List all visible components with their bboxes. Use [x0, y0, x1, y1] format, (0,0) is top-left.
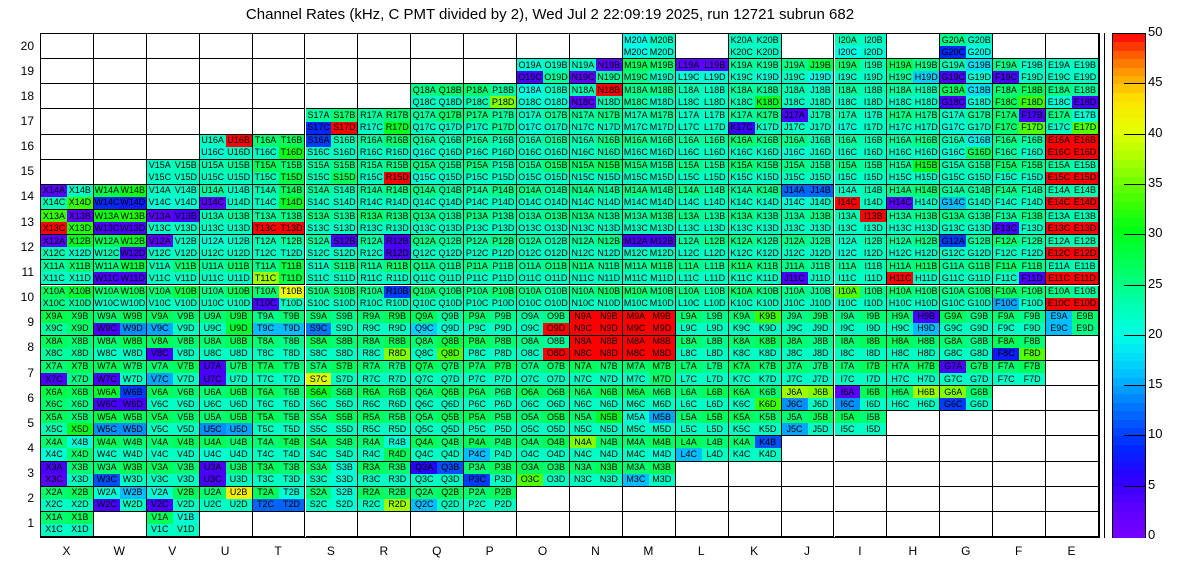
heatmap-subpad: F13B — [1019, 210, 1045, 222]
heatmap-subpad: F19C — [993, 71, 1019, 83]
heatmap-subpad: N6B — [596, 386, 622, 398]
heatmap-cell: I14AI14BI14CI14D — [835, 185, 888, 210]
heatmap-cell-empty — [623, 512, 676, 537]
heatmap-subpad: X2A — [41, 487, 67, 499]
heatmap-subpad: S6B — [331, 386, 357, 398]
heatmap-subpad: Q2A — [411, 487, 437, 499]
heatmap-subpad: U10D — [226, 298, 252, 310]
heatmap-subpad: J6A — [782, 386, 808, 398]
heatmap-cell: F13AF13BF13CF13D — [993, 210, 1046, 235]
heatmap-subpad: T12D — [279, 247, 305, 259]
heatmap-cell: I17AI17BI17CI17D — [835, 109, 888, 134]
heatmap-cell: I13AI13BI13CI13D — [835, 210, 888, 235]
heatmap-cell: J13AJ13BJ13CJ13D — [782, 210, 835, 235]
heatmap-subpad: H10D — [913, 298, 939, 310]
heatmap-subpad: S8A — [306, 336, 332, 348]
heatmap-subpad: F8C — [993, 348, 1019, 360]
heatmap-cell: L10AL10BL10CL10D — [676, 286, 729, 311]
heatmap-subpad: P6B — [490, 386, 516, 398]
heatmap-cell: Q15AQ15BQ15CQ15D — [411, 160, 464, 185]
heatmap-subpad: E12C — [1046, 247, 1072, 259]
heatmap-subpad: L5A — [676, 411, 702, 423]
heatmap-subpad: U10C — [200, 298, 226, 310]
heatmap-subpad: T15A — [253, 160, 279, 172]
heatmap-cell: M5AM5BM5CM5D — [623, 411, 676, 436]
heatmap-subpad: T12C — [253, 247, 279, 259]
x-axis-tick-label: V — [146, 544, 199, 558]
heatmap-subpad: X5C — [41, 423, 67, 435]
heatmap-subpad: K16B — [755, 135, 781, 147]
heatmap-subpad: T13C — [253, 222, 279, 234]
heatmap-subpad: R10B — [384, 286, 410, 298]
heatmap-subpad: Q4C — [411, 448, 437, 460]
heatmap-cell: H6AH6BH6CH6D — [887, 386, 940, 411]
heatmap-subpad: K19C — [729, 71, 755, 83]
heatmap-cell: M4AM4BM4CM4D — [623, 436, 676, 461]
heatmap-subpad: Q3C — [411, 474, 437, 486]
heatmap-cell: S15AS15BS15CS15D — [306, 160, 359, 185]
heatmap-subpad: K9C — [729, 323, 755, 335]
heatmap-subpad: K19B — [755, 59, 781, 71]
heatmap-subpad: K13B — [755, 210, 781, 222]
heatmap-cell: V7AV7BV7CV7D — [147, 361, 200, 386]
heatmap-cell-empty — [835, 436, 888, 461]
heatmap-cell: P9AP9BP9CP9D — [464, 311, 517, 336]
heatmap-subpad: E18A — [1046, 84, 1072, 96]
heatmap-subpad: K5D — [755, 423, 781, 435]
heatmap-subpad: N10C — [570, 298, 596, 310]
heatmap-cell: I10AI10BI10CI10D — [835, 286, 888, 311]
heatmap-subpad: P13B — [490, 210, 516, 222]
heatmap-subpad: E15B — [1072, 160, 1098, 172]
heatmap-cell: X7AX7BX7CX7D — [41, 361, 94, 386]
heatmap-subpad: H13B — [913, 210, 939, 222]
heatmap-cell: M9AM9BM9CM9D — [623, 311, 676, 336]
heatmap-subpad: U8B — [226, 336, 252, 348]
heatmap-subpad: M18D — [649, 96, 675, 108]
heatmap-cell-empty — [464, 34, 517, 59]
heatmap-subpad: I18D — [860, 96, 886, 108]
heatmap-subpad: I6C — [835, 398, 861, 410]
heatmap-subpad: U6C — [200, 398, 226, 410]
heatmap-subpad: I8A — [835, 336, 861, 348]
heatmap-subpad: R4B — [384, 436, 410, 448]
heatmap-subpad: Q4D — [437, 448, 463, 460]
heatmap-subpad: N13A — [570, 210, 596, 222]
heatmap-subpad: M9A — [623, 311, 649, 323]
heatmap-subpad: X4C — [41, 448, 67, 460]
heatmap-subpad: I6B — [860, 386, 886, 398]
heatmap-cell: R3AR3BR3CR3D — [358, 462, 411, 487]
heatmap-subpad: N8C — [570, 348, 596, 360]
colorbar-tick-label: 30 — [1148, 225, 1162, 240]
heatmap-subpad: L14B — [702, 185, 728, 197]
heatmap-subpad: N5D — [596, 423, 622, 435]
heatmap-subpad: I17C — [835, 122, 861, 134]
heatmap-cell-empty — [1046, 361, 1099, 386]
heatmap-subpad: H16D — [913, 147, 939, 159]
heatmap-subpad: T7B — [279, 361, 305, 373]
heatmap-subpad: U14B — [226, 185, 252, 197]
heatmap-cell: O4AO4BO4CO4D — [517, 436, 570, 461]
heatmap-subpad: F15D — [1019, 172, 1045, 184]
heatmap-subpad: F7B — [1019, 361, 1045, 373]
heatmap-subpad: Q13B — [437, 210, 463, 222]
heatmap-cell: W11AW11BW11CW11D — [94, 260, 147, 285]
heatmap-cell: G6AG6BG6CG6D — [940, 386, 993, 411]
heatmap-cell: O9AO9BO9CO9D — [517, 311, 570, 336]
heatmap-subpad: Q5A — [411, 411, 437, 423]
heatmap-subpad: P18D — [490, 96, 516, 108]
heatmap-subpad: W13B — [120, 210, 146, 222]
heatmap-subpad: W3B — [120, 462, 146, 474]
heatmap-subpad: H18B — [913, 84, 939, 96]
heatmap-cell: K19AK19BK19CK19D — [729, 59, 782, 84]
heatmap-subpad: I5A — [835, 411, 861, 423]
heatmap-subpad: F12A — [993, 235, 1019, 247]
heatmap-subpad: G16A — [940, 135, 966, 147]
heatmap-subpad: M16B — [649, 135, 675, 147]
heatmap-cell: X8AX8BX8CX8D — [41, 336, 94, 361]
heatmap-subpad: T14D — [279, 197, 305, 209]
heatmap-subpad: K16C — [729, 147, 755, 159]
heatmap-cell: Q6AQ6BQ6CQ6D — [411, 386, 464, 411]
heatmap-subpad: X7D — [67, 373, 93, 385]
heatmap-subpad: K12D — [755, 247, 781, 259]
heatmap-subpad: T6C — [253, 398, 279, 410]
heatmap-subpad: V10D — [173, 298, 199, 310]
heatmap-subpad: Q17B — [437, 109, 463, 121]
heatmap-cell: P7AP7BP7CP7D — [464, 361, 517, 386]
heatmap-subpad: X2D — [67, 499, 93, 511]
heatmap-cell: F14AF14BF14CF14D — [993, 185, 1046, 210]
heatmap-subpad: M6D — [649, 398, 675, 410]
heatmap-subpad: H6A — [887, 386, 913, 398]
heatmap-cell: W10AW10BW10CW10D — [94, 286, 147, 311]
heatmap-subpad: V15D — [173, 172, 199, 184]
heatmap-cell: X1AX1BX1CX1D — [41, 512, 94, 537]
heatmap-subpad: G17C — [940, 122, 966, 134]
heatmap-subpad: I14D — [860, 197, 886, 209]
heatmap-subpad: O14D — [543, 197, 569, 209]
heatmap-subpad: J10C — [782, 298, 808, 310]
heatmap-subpad: F16A — [993, 135, 1019, 147]
heatmap-subpad: E14C — [1046, 197, 1072, 209]
heatmap-subpad: T16B — [279, 135, 305, 147]
heatmap-subpad: N10D — [596, 298, 622, 310]
heatmap-cell: X2AX2BX2CX2D — [41, 487, 94, 512]
heatmap-cell-empty — [782, 436, 835, 461]
heatmap-subpad: P12C — [464, 247, 490, 259]
heatmap-subpad: W10B — [120, 286, 146, 298]
heatmap-subpad: T15C — [253, 172, 279, 184]
heatmap-cell-empty — [411, 59, 464, 84]
heatmap-subpad: S2D — [331, 499, 357, 511]
heatmap-subpad: L8C — [676, 348, 702, 360]
heatmap-subpad: P4D — [490, 448, 516, 460]
heatmap-subpad: N15B — [596, 160, 622, 172]
heatmap-subpad: P16D — [490, 147, 516, 159]
heatmap-subpad: H13A — [887, 210, 913, 222]
heatmap-subpad: K13A — [729, 210, 755, 222]
heatmap-subpad: K19D — [755, 71, 781, 83]
heatmap-subpad: E10C — [1046, 298, 1072, 310]
heatmap-subpad: L16C — [676, 147, 702, 159]
heatmap-cell: K6AK6BK6CK6D — [729, 386, 782, 411]
heatmap-subpad: L7B — [702, 361, 728, 373]
heatmap-subpad: W9D — [120, 323, 146, 335]
heatmap-subpad: L11D — [702, 272, 728, 284]
heatmap-subpad: H6B — [913, 386, 939, 398]
heatmap-subpad: U2D — [226, 499, 252, 511]
heatmap-subpad: Q5D — [437, 423, 463, 435]
heatmap-cell: M6AM6BM6CM6D — [623, 386, 676, 411]
heatmap-subpad: R6C — [358, 398, 384, 410]
heatmap-subpad: X2B — [67, 487, 93, 499]
heatmap-subpad: Q7A — [411, 361, 437, 373]
heatmap-subpad: K5C — [729, 423, 755, 435]
heatmap-subpad: P7A — [464, 361, 490, 373]
heatmap-subpad: S10B — [331, 286, 357, 298]
heatmap-cell: J5AJ5BJ5CJ5D — [782, 411, 835, 436]
heatmap-subpad: H19D — [913, 71, 939, 83]
heatmap-subpad: V15A — [147, 160, 173, 172]
heatmap-cell: X13AX13BX13CX13D — [41, 210, 94, 235]
heatmap-subpad: R4C — [358, 448, 384, 460]
heatmap-subpad: O6B — [543, 386, 569, 398]
heatmap-subpad: E16B — [1072, 135, 1098, 147]
heatmap-subpad: L8D — [702, 348, 728, 360]
heatmap-subpad: X14D — [67, 197, 93, 209]
heatmap-subpad: G6D — [966, 398, 992, 410]
heatmap-subpad: G10C — [940, 298, 966, 310]
heatmap-subpad: N3D — [596, 474, 622, 486]
heatmap-subpad: P16B — [490, 135, 516, 147]
heatmap-subpad: J9C — [782, 323, 808, 335]
heatmap-subpad: G13D — [966, 222, 992, 234]
heatmap-subpad: Q6B — [437, 386, 463, 398]
heatmap-subpad: E18D — [1072, 96, 1098, 108]
heatmap-subpad: R15C — [358, 172, 384, 184]
heatmap-cell: I9AI9BI9CI9D — [835, 311, 888, 336]
heatmap-subpad: K18D — [755, 96, 781, 108]
heatmap-subpad: Q10B — [437, 286, 463, 298]
heatmap-subpad: K20B — [755, 34, 781, 46]
heatmap-subpad: E16D — [1072, 147, 1098, 159]
heatmap-subpad: O8D — [543, 348, 569, 360]
heatmap-cell: N11AN11BN11CN11D — [570, 260, 623, 285]
heatmap-cell-empty — [41, 160, 94, 185]
heatmap-subpad: M8C — [623, 348, 649, 360]
heatmap-subpad: R15D — [384, 172, 410, 184]
heatmap-subpad: O9B — [543, 311, 569, 323]
heatmap-subpad: N18D — [596, 96, 622, 108]
heatmap-subpad: L11B — [702, 260, 728, 272]
heatmap-subpad: K17B — [755, 109, 781, 121]
heatmap-subpad: W2B — [120, 487, 146, 499]
heatmap-subpad: M4B — [649, 436, 675, 448]
heatmap-cell: L16AL16BL16CL16D — [676, 135, 729, 160]
heatmap-subpad: H18C — [887, 96, 913, 108]
heatmap-cell: N3AN3BN3CN3D — [570, 462, 623, 487]
heatmap-cell: U2AU2BU2CU2D — [200, 487, 253, 512]
heatmap-subpad: J14D — [808, 197, 834, 209]
heatmap-cell-empty — [41, 135, 94, 160]
heatmap-subpad: K10C — [729, 298, 755, 310]
heatmap-cell: K13AK13BK13CK13D — [729, 210, 782, 235]
heatmap-subpad: N10A — [570, 286, 596, 298]
heatmap-subpad: F11A — [993, 260, 1019, 272]
heatmap-subpad: M19C — [623, 71, 649, 83]
heatmap-subpad: T3B — [279, 462, 305, 474]
heatmap-cell: N4AN4BN4CN4D — [570, 436, 623, 461]
heatmap-subpad: I10B — [860, 286, 886, 298]
heatmap-subpad: E15D — [1072, 172, 1098, 184]
heatmap-subpad: P9B — [490, 311, 516, 323]
heatmap-subpad: T8D — [279, 348, 305, 360]
heatmap-subpad: U5C — [200, 423, 226, 435]
heatmap-cell: O11AO11BO11CO11D — [517, 260, 570, 285]
heatmap-subpad: P18C — [464, 96, 490, 108]
heatmap-subpad: I13C — [835, 222, 861, 234]
heatmap-cell: W3AW3BW3CW3D — [94, 462, 147, 487]
heatmap-subpad: Q18C — [411, 96, 437, 108]
heatmap-subpad: Q10D — [437, 298, 463, 310]
heatmap-subpad: O3C — [517, 474, 543, 486]
heatmap-subpad: R12A — [358, 235, 384, 247]
heatmap-subpad: M9B — [649, 311, 675, 323]
colorbar-ticks: 05101520253035404550 — [1112, 33, 1192, 538]
heatmap-subpad: I13A — [835, 210, 861, 222]
heatmap-subpad: F10B — [1019, 286, 1045, 298]
heatmap-cell: P18AP18BP18CP18D — [464, 84, 517, 109]
heatmap-subpad: S10D — [331, 298, 357, 310]
heatmap-subpad: L18B — [702, 84, 728, 96]
heatmap-subpad: U12D — [226, 247, 252, 259]
heatmap-subpad: P2A — [464, 487, 490, 499]
heatmap-subpad: S6A — [306, 386, 332, 398]
heatmap-subpad: T11B — [279, 260, 305, 272]
heatmap-subpad: S7B — [331, 361, 357, 373]
heatmap-subpad: T8A — [253, 336, 279, 348]
heatmap-subpad: L8B — [702, 336, 728, 348]
heatmap-subpad: L9C — [676, 323, 702, 335]
heatmap-subpad: F12C — [993, 247, 1019, 259]
heatmap-cell: T15AT15BT15CT15D — [253, 160, 306, 185]
heatmap-subpad: L13D — [702, 222, 728, 234]
heatmap-subpad: S17A — [306, 109, 332, 121]
heatmap-subpad: I10A — [835, 286, 861, 298]
heatmap-subpad: P12B — [490, 235, 516, 247]
heatmap-subpad: M10C — [623, 298, 649, 310]
heatmap-cell: E12AE12BE12CE12D — [1046, 235, 1099, 260]
heatmap-subpad: R3A — [358, 462, 384, 474]
heatmap-subpad: F19D — [1019, 71, 1045, 83]
heatmap-subpad: X12A — [41, 235, 67, 247]
heatmap-subpad: N18A — [570, 84, 596, 96]
heatmap-cell: U8AU8BU8CU8D — [200, 336, 253, 361]
heatmap-subpad: R9B — [384, 311, 410, 323]
heatmap-subpad: U10A — [200, 286, 226, 298]
heatmap-cell: T7AT7BT7CT7D — [253, 361, 306, 386]
heatmap-plot: M20AM20BM20CM20DK20AK20BK20CK20DI20AI20B… — [40, 33, 1100, 538]
heatmap-subpad: P8B — [490, 336, 516, 348]
heatmap-subpad: N8B — [596, 336, 622, 348]
heatmap-subpad: V13D — [173, 222, 199, 234]
heatmap-subpad: J17B — [808, 109, 834, 121]
heatmap-cell: S7AS7BS7CS7D — [306, 361, 359, 386]
heatmap-subpad: S9B — [331, 311, 357, 323]
heatmap-cell: T8AT8BT8CT8D — [253, 336, 306, 361]
heatmap-subpad: V3C — [147, 474, 173, 486]
heatmap-subpad: V8C — [147, 348, 173, 360]
heatmap-subpad: O19C — [517, 71, 543, 83]
heatmap-subpad: N4A — [570, 436, 596, 448]
heatmap-subpad: P18B — [490, 84, 516, 96]
heatmap-subpad: G19A — [940, 59, 966, 71]
heatmap-cell: E9AE9BE9CE9D — [1046, 311, 1099, 336]
heatmap-cell: M8AM8BM8CM8D — [623, 336, 676, 361]
colorbar-axis-line — [1104, 33, 1105, 538]
heatmap-subpad: O17D — [543, 122, 569, 134]
heatmap-subpad: H15D — [913, 172, 939, 184]
heatmap-subpad: T11C — [253, 272, 279, 284]
heatmap-subpad: J15A — [782, 160, 808, 172]
heatmap-subpad: N6C — [570, 398, 596, 410]
heatmap-cell-empty — [782, 34, 835, 59]
heatmap-subpad: J10B — [808, 286, 834, 298]
heatmap-cell-empty — [993, 411, 1046, 436]
heatmap-subpad: K14A — [729, 185, 755, 197]
heatmap-subpad: X14C — [41, 197, 67, 209]
heatmap-subpad: G7A — [940, 361, 966, 373]
heatmap-cell: K15AK15BK15CK15D — [729, 160, 782, 185]
heatmap-cell-empty — [570, 34, 623, 59]
heatmap-subpad: M18C — [623, 96, 649, 108]
heatmap-subpad: K7B — [755, 361, 781, 373]
y-axis-tick-label: 9 — [6, 315, 34, 329]
heatmap-subpad: N17C — [570, 122, 596, 134]
heatmap-subpad: M7D — [649, 373, 675, 385]
heatmap-subpad: V14D — [173, 197, 199, 209]
heatmap-cell: H9AH9BH9CH9D — [887, 311, 940, 336]
heatmap-cell: W9AW9BW9CW9D — [94, 311, 147, 336]
heatmap-cell: U13AU13BU13CU13D — [200, 210, 253, 235]
heatmap-subpad: I14A — [835, 185, 861, 197]
heatmap-subpad: G15B — [966, 160, 992, 172]
heatmap-subpad: L15D — [702, 172, 728, 184]
heatmap-subpad: W10A — [94, 286, 120, 298]
heatmap-cell: M12AM12BM12CM12D — [623, 235, 676, 260]
heatmap-subpad: V7D — [173, 373, 199, 385]
heatmap-subpad: K8B — [755, 336, 781, 348]
heatmap-subpad: G15A — [940, 160, 966, 172]
heatmap-cell: S10AS10BS10CS10D — [306, 286, 359, 311]
heatmap-cell: S4AS4BS4CS4D — [306, 436, 359, 461]
heatmap-cell: P15AP15BP15CP15D — [464, 160, 517, 185]
heatmap-subpad: E14D — [1072, 197, 1098, 209]
heatmap-subpad: F8A — [993, 336, 1019, 348]
heatmap-subpad: J8D — [808, 348, 834, 360]
heatmap-subpad: L12D — [702, 247, 728, 259]
heatmap-subpad: O16B — [543, 135, 569, 147]
heatmap-subpad: E17A — [1046, 109, 1072, 121]
heatmap-cell: S8AS8BS8CS8D — [306, 336, 359, 361]
heatmap-subpad: N17D — [596, 122, 622, 134]
heatmap-cell-empty — [1046, 386, 1099, 411]
heatmap-cell: X4AX4BX4CX4D — [41, 436, 94, 461]
heatmap-subpad: U5B — [226, 411, 252, 423]
